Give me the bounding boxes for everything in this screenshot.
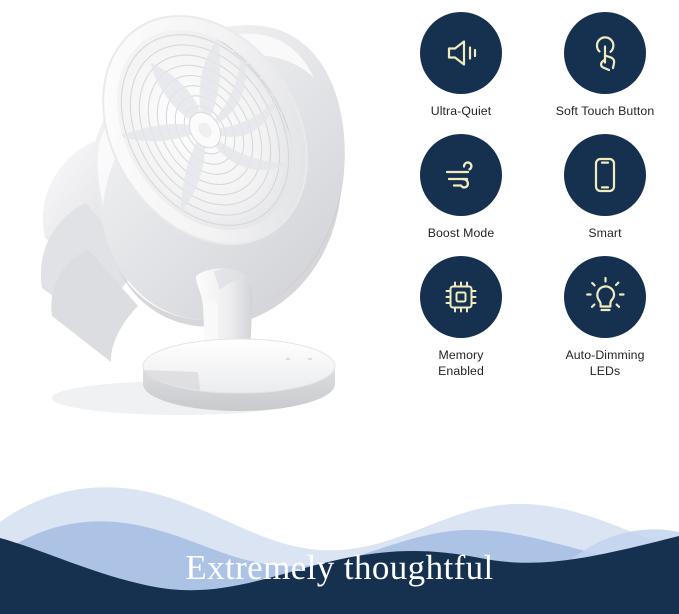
touch-finger-icon (583, 31, 627, 75)
wind-boost-icon (438, 152, 484, 198)
feature-label: Smart (588, 225, 621, 241)
feature-item-memory-enabled[interactable]: Memory Enabled (392, 256, 530, 386)
light-bulb-icon (582, 274, 628, 320)
fan-base (143, 339, 335, 411)
wave-decoration (0, 462, 679, 614)
feature-item-auto-dimming-leds[interactable]: Auto-Dimming LEDs (536, 256, 674, 386)
feature-item-ultra-quiet[interactable]: Ultra-Quiet (392, 12, 530, 134)
touch-finger-icon-badge (564, 12, 646, 94)
wind-boost-icon-badge (420, 134, 502, 216)
feature-item-soft-touch-button[interactable]: Soft Touch Button (536, 12, 674, 134)
product-image (0, 0, 400, 440)
marketing-image: Ultra-Quiet Soft Touch Button (0, 0, 679, 614)
memory-chip-icon-badge (420, 256, 502, 338)
speaker-sound-icon-badge (420, 12, 502, 94)
feature-label: Auto-Dimming LEDs (565, 347, 644, 379)
feature-grid: Ultra-Quiet Soft Touch Button (392, 12, 674, 386)
feature-label: Soft Touch Button (556, 103, 655, 119)
feature-label: Memory Enabled (438, 347, 484, 379)
light-bulb-icon-badge (564, 256, 646, 338)
wave-layers (0, 462, 679, 614)
memory-chip-icon (439, 275, 483, 319)
feature-item-boost-mode[interactable]: Boost Mode (392, 134, 530, 256)
feature-label: Ultra-Quiet (431, 103, 492, 119)
banner-headline: Extremely thoughtful (0, 547, 679, 589)
fan-illustration (0, 0, 400, 440)
smartphone-icon (583, 153, 627, 197)
feature-item-smart[interactable]: Smart (536, 134, 674, 256)
feature-label: Boost Mode (428, 225, 495, 241)
speaker-sound-icon (439, 31, 483, 75)
smartphone-icon-badge (564, 134, 646, 216)
